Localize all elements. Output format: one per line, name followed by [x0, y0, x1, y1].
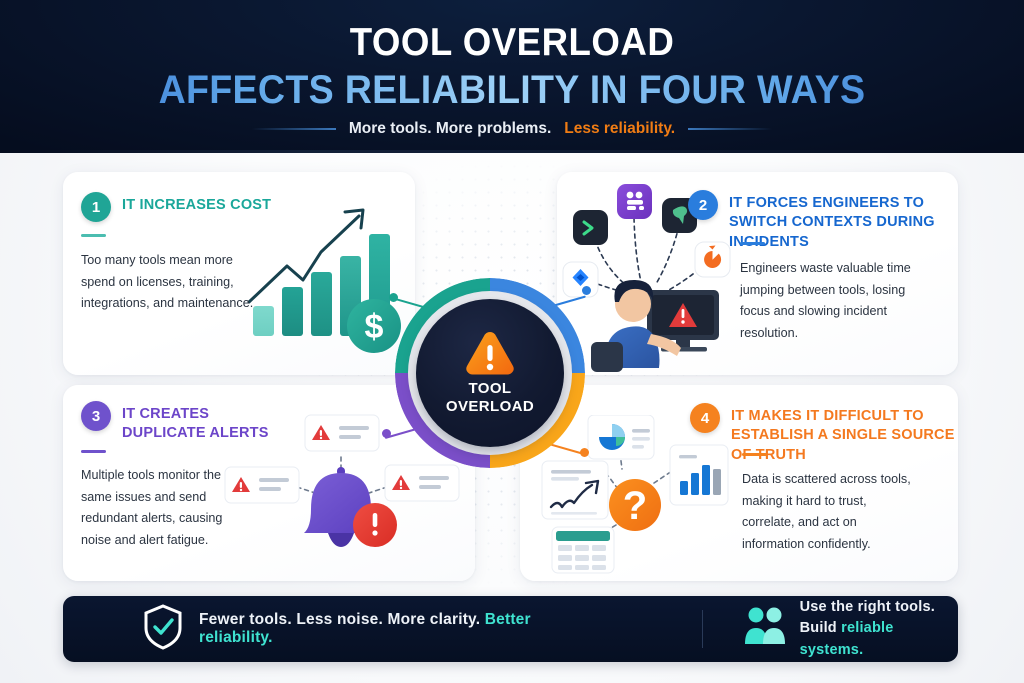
card2-body-text: Engineers waste valuable time jumping be… [740, 258, 925, 345]
connector-dot-card3 [382, 429, 391, 438]
footer-divider [702, 610, 703, 648]
hub-label: TOOL OVERLOAD [446, 380, 534, 416]
card-single-source-of-truth[interactable]: ? 4 IT MAKES IT DIFFICULT TO ESTABLISH A… [520, 385, 958, 581]
rising-bar-chart-with-dollar-coin-icon: $ [241, 204, 413, 364]
card-increases-cost[interactable]: $ 1 IT INCREASES COST Too many tools mea… [63, 172, 415, 375]
footer-right-text: Use the right tools. Build reliable syst… [800, 597, 958, 660]
card4-body-text: Data is scattered across tools, making i… [742, 469, 922, 556]
footer-right-line2: Build reliable systems. [800, 618, 958, 660]
card1-body-text: Too many tools mean more spend on licens… [81, 250, 256, 315]
card4-number-badge: 4 [690, 403, 720, 433]
line-chart-card [542, 461, 608, 519]
tagline-rule-right [688, 128, 772, 130]
pagerduty-icon [617, 184, 652, 219]
card4-accent-rule [742, 453, 767, 456]
alert-toast-top [305, 415, 379, 451]
shield-check-icon [143, 604, 183, 655]
card2-number-badge: 2 [688, 190, 718, 220]
hub-core: TOOL OVERLOAD [416, 299, 564, 447]
card2-title-line1: IT FORCES ENGINEERS TO [729, 194, 958, 213]
alert-toast-right [385, 465, 459, 501]
page-subtitle: AFFECTS RELIABILITY IN FOUR WAYS [31, 68, 994, 113]
tagline-rule-left [252, 128, 336, 130]
pie-chart-card [588, 415, 654, 459]
alert-toast-left [225, 467, 299, 503]
hub-label-line1: TOOL [446, 380, 534, 398]
footer-right-line1: Use the right tools. [800, 597, 958, 618]
svg-text:$: $ [365, 308, 384, 346]
card2-accent-rule [740, 242, 765, 245]
hub-label-line2: OVERLOAD [446, 398, 534, 416]
infographic-canvas: TOOL OVERLOAD AFFECTS RELIABILITY IN FOU… [0, 0, 1024, 683]
two-people-icon [743, 606, 787, 651]
footer-right-group: Use the right tools. Build reliable syst… [743, 597, 958, 660]
card4-title-line1: IT MAKES IT DIFFICULT TO [731, 407, 958, 426]
page-title: TOOL OVERLOAD [31, 21, 994, 65]
card1-header: 1 IT INCREASES COST [81, 192, 271, 222]
card3-number-badge: 3 [81, 401, 111, 431]
footer-left-group: Fewer tools. Less noise. More clarity. B… [63, 604, 602, 655]
footer-message: Fewer tools. Less noise. More clarity. B… [199, 611, 602, 647]
footer-right-line2-plain: Build [800, 620, 841, 636]
footer-bar: Fewer tools. Less noise. More clarity. B… [63, 596, 958, 662]
header-banner: TOOL OVERLOAD AFFECTS RELIABILITY IN FOU… [0, 0, 1024, 153]
terminal-icon [573, 210, 608, 245]
tagline-highlight-text: Less reliability. [564, 120, 675, 138]
card2-title-line2: SWITCH CONTEXTS DURING INCIDENTS [729, 213, 958, 252]
card3-title: IT CREATES DUPLICATE ALERTS [122, 401, 269, 444]
card1-title: IT INCREASES COST [122, 192, 271, 215]
card3-header: 3 IT CREATES DUPLICATE ALERTS [81, 401, 269, 444]
card3-title-line1: IT CREATES [122, 405, 269, 424]
card-context-switching[interactable]: 2 IT FORCES ENGINEERS TO SWITCH CONTEXTS… [557, 172, 958, 375]
footer-message-plain: Fewer tools. Less noise. More clarity. [199, 611, 485, 628]
card2-header: 2 IT FORCES ENGINEERS TO SWITCH CONTEXTS… [688, 190, 958, 252]
header-tagline: More tools. More problems. Less reliabil… [0, 120, 1024, 138]
svg-text:?: ? [623, 484, 647, 528]
center-hub: TOOL OVERLOAD [395, 278, 585, 468]
card1-number-badge: 1 [81, 192, 111, 222]
card1-accent-rule [81, 234, 106, 237]
card4-header: 4 IT MAKES IT DIFFICULT TO ESTABLISH A S… [690, 403, 958, 465]
card4-title-line2: ESTABLISH A SINGLE SOURCE OF TRUTH [731, 426, 958, 465]
card3-title-line2: DUPLICATE ALERTS [122, 424, 269, 443]
card3-accent-rule [81, 450, 106, 453]
card3-body-text: Multiple tools monitor the same issues a… [81, 465, 231, 552]
tagline-plain-text: More tools. More problems. [349, 120, 551, 138]
table-card [552, 527, 614, 573]
warning-triangle-icon [464, 330, 516, 376]
